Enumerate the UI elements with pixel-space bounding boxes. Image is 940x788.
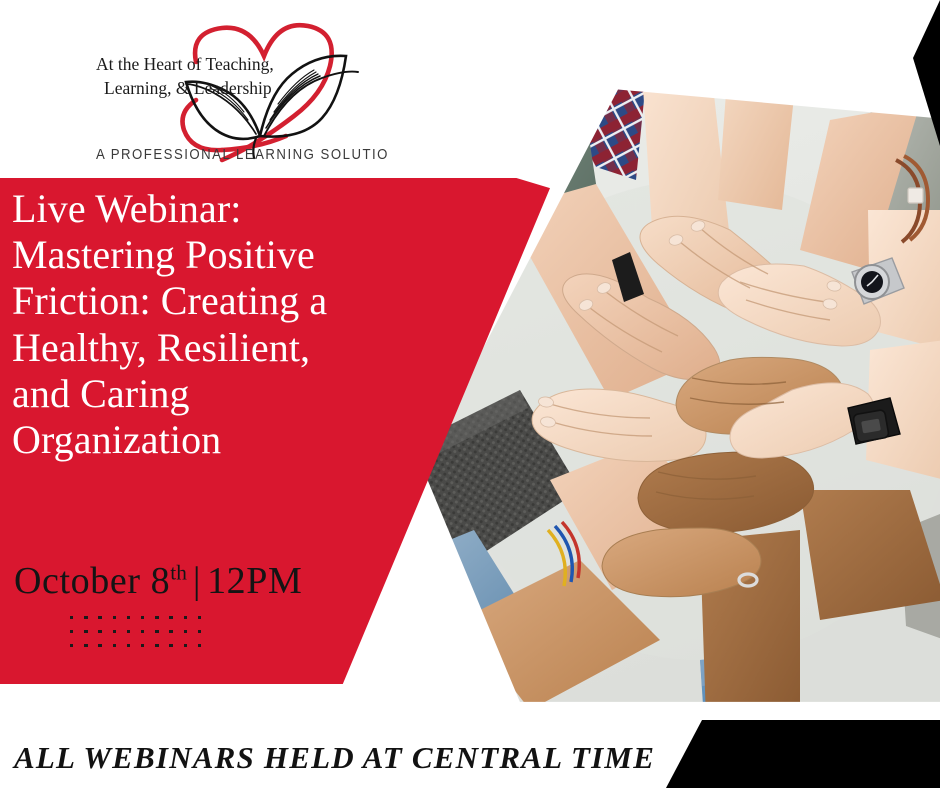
- headline-line: Organization: [12, 417, 460, 463]
- footer-note: ALL WEBINARS HELD AT CENTRAL TIME: [14, 740, 655, 776]
- page-title: Live Webinar: Mastering Positive Frictio…: [12, 186, 460, 463]
- headline-line: Healthy, Resilient,: [12, 325, 460, 371]
- headline-line: and Caring: [12, 371, 460, 417]
- logo-artwork: At the Heart of Teaching, Learning, & Le…: [88, 18, 388, 166]
- headline-line: Mastering Positive: [12, 232, 460, 278]
- event-date: October 8: [14, 560, 170, 602]
- logo-line-2: Learning, & Leadership: [104, 78, 272, 98]
- sleeve-plaid: [550, 60, 650, 180]
- team-hands-photo: [400, 60, 940, 715]
- event-time: 12PM: [207, 560, 302, 602]
- headline-line: Friction: Creating a: [12, 278, 460, 324]
- date-time-separator: |: [187, 560, 207, 602]
- company-logo: At the Heart of Teaching, Learning, & Le…: [88, 18, 388, 166]
- team-hands-illustration: [400, 60, 940, 715]
- headline-line: Live Webinar:: [12, 186, 460, 232]
- event-date-time: October 8th|12PM: [14, 562, 302, 600]
- logo-tagline: A PROFESSIONAL LEARNING SOLUTIONS COMPAN…: [96, 145, 388, 162]
- event-date-ordinal: th: [170, 560, 187, 584]
- dot-grid-decoration: [70, 616, 212, 658]
- logo-line-1: At the Heart of Teaching,: [96, 54, 274, 74]
- webinar-promo-poster: At the Heart of Teaching, Learning, & Le…: [0, 0, 940, 788]
